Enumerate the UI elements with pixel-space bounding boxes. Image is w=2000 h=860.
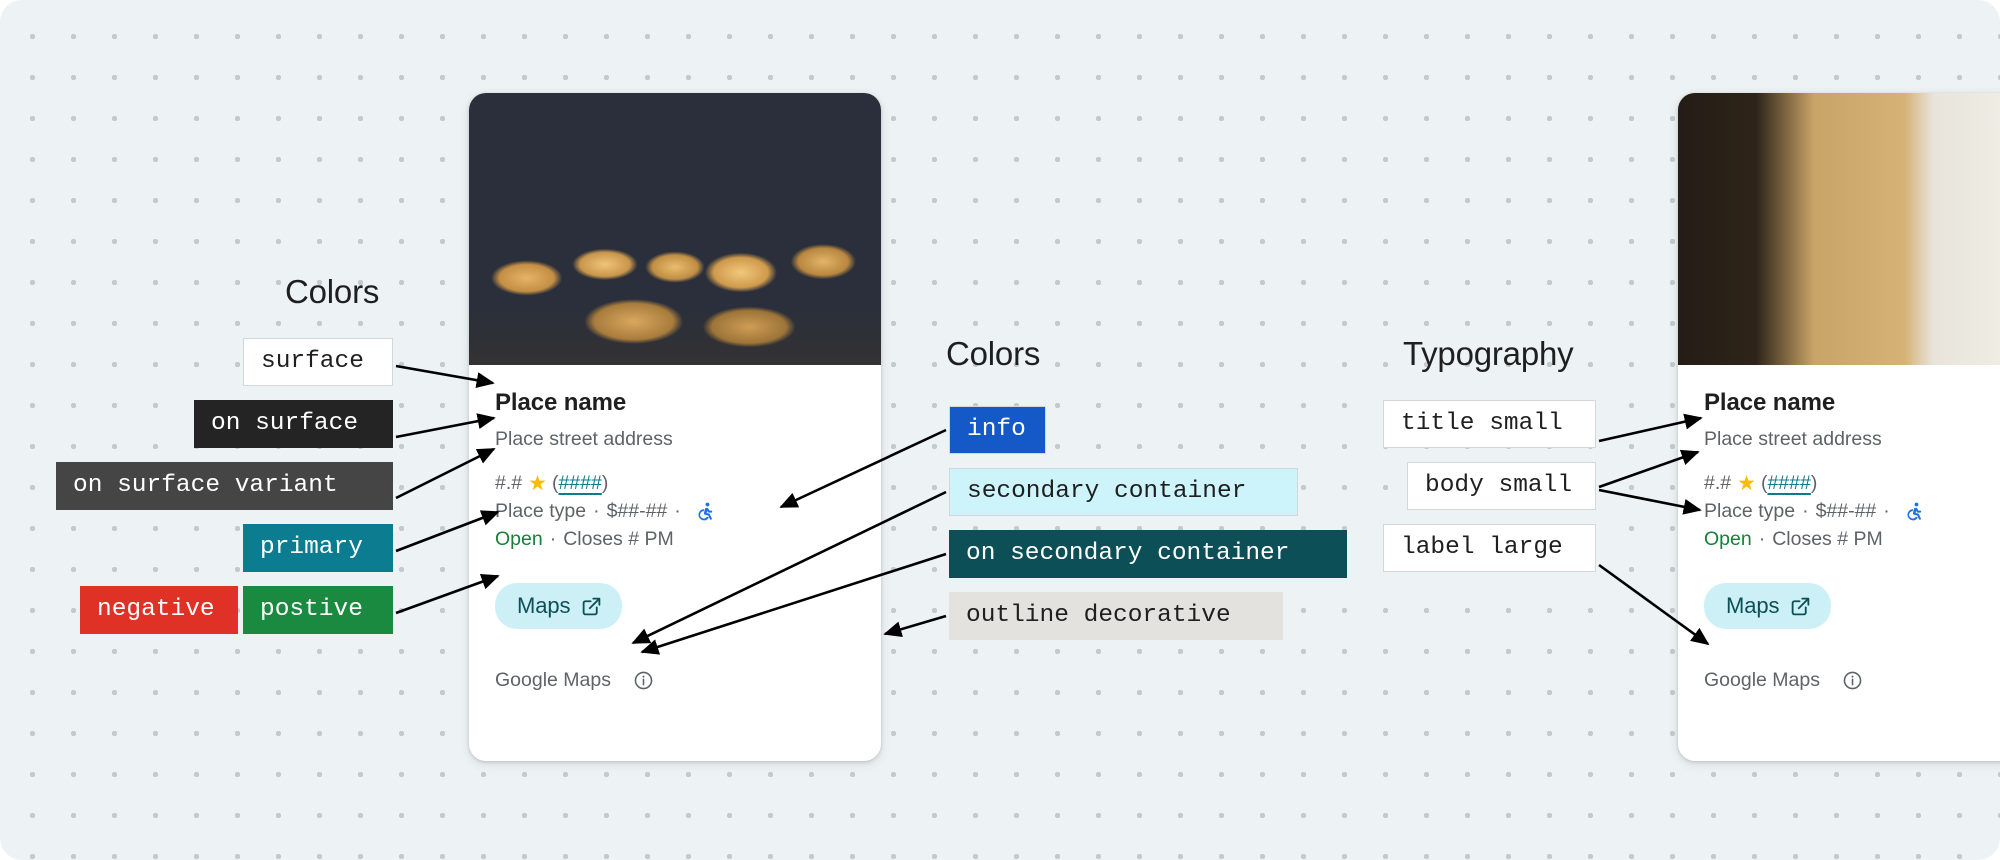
color-chip-label: secondary container: [967, 480, 1246, 505]
color-chip-label: surface: [261, 350, 364, 375]
rating-value: #.#: [1704, 472, 1731, 495]
wheelchair-accessible-icon: [1905, 501, 1924, 522]
open-status: Open: [495, 528, 543, 551]
paren-close: ): [602, 472, 609, 495]
typography-chip-label: label large: [1401, 536, 1563, 561]
external-link-icon: [1790, 596, 1811, 617]
color-chip-negative[interactable]: negative: [80, 586, 238, 634]
color-chip-info[interactable]: info: [949, 406, 1046, 454]
typography-chip-label: title small: [1401, 412, 1563, 437]
open-status: Open: [1704, 528, 1752, 551]
color-chip-on-secondary-container[interactable]: on secondary container: [949, 530, 1347, 578]
color-chip-label: postive: [260, 598, 363, 623]
place-name: Place name: [1704, 389, 2000, 417]
design-annotation-canvas: Colors Colors Typography surface on surf…: [0, 0, 2000, 860]
footer-brand-label: Google Maps: [1704, 669, 1820, 692]
external-link-icon: [581, 596, 602, 617]
color-chip-label: on secondary container: [966, 542, 1289, 567]
place-type-row: Place type · $##-## ·: [495, 500, 855, 523]
place-name: Place name: [495, 389, 855, 417]
star-icon: ★: [1737, 473, 1756, 494]
typography-chip-label-large[interactable]: label large: [1383, 524, 1596, 572]
maps-button[interactable]: Maps: [495, 583, 622, 629]
maps-button-label: Maps: [1726, 593, 1779, 619]
star-icon: ★: [528, 473, 547, 494]
color-chip-label: outline decorative: [966, 604, 1231, 629]
place-type-row: Place type · $##-## ·: [1704, 500, 2000, 523]
color-chip-label: on surface variant: [73, 474, 338, 499]
maps-button-label: Maps: [517, 593, 570, 619]
separator-dot: ·: [674, 500, 681, 523]
typography-chip-label: body small: [1425, 474, 1572, 499]
place-card-left: Place name Place street address #.# ★ (#…: [469, 93, 881, 761]
wheelchair-accessible-icon: [696, 501, 715, 522]
place-hours-row: Open · Closes # PM: [1704, 528, 2000, 551]
closing-time: Closes # PM: [1772, 528, 1883, 551]
arrow-outline-decorative-to-card-divider: [885, 616, 946, 634]
color-chip-label: primary: [260, 536, 363, 561]
closing-time: Closes # PM: [563, 528, 674, 551]
color-chip-postive[interactable]: postive: [243, 586, 393, 634]
separator-dot: ·: [593, 500, 600, 523]
typography-chip-title-small[interactable]: title small: [1383, 400, 1596, 448]
price-range: $##-##: [1816, 500, 1877, 523]
typography-chip-body-small[interactable]: body small: [1407, 462, 1596, 510]
info-circle-icon[interactable]: [633, 670, 654, 691]
rating-value: #.#: [495, 472, 522, 495]
separator-dot: ·: [1759, 528, 1766, 551]
price-range: $##-##: [607, 500, 668, 523]
color-chip-on-surface-variant[interactable]: on surface variant: [56, 462, 393, 510]
place-rating-row: #.# ★ (####): [495, 472, 855, 495]
card-footer: Google Maps: [1704, 669, 2000, 692]
separator-dot: ·: [1802, 500, 1809, 523]
card-footer: Google Maps: [495, 669, 855, 692]
place-type: Place type: [1704, 500, 1795, 523]
color-chip-primary[interactable]: primary: [243, 524, 393, 572]
maps-button[interactable]: Maps: [1704, 583, 1831, 629]
place-type: Place type: [495, 500, 586, 523]
color-chip-label: info: [967, 418, 1026, 443]
section-heading-colors-left: Colors: [285, 273, 379, 311]
footer-brand-label: Google Maps: [495, 669, 611, 692]
place-address: Place street address: [495, 428, 855, 451]
color-chip-surface[interactable]: surface: [243, 338, 393, 386]
place-photo-cafe: [1678, 93, 2000, 365]
color-chip-on-surface[interactable]: on surface: [194, 400, 393, 448]
paren-close: ): [1811, 472, 1818, 495]
place-address: Place street address: [1704, 428, 2000, 451]
place-photo-bakery: [469, 93, 881, 365]
section-heading-colors-mid: Colors: [946, 335, 1040, 373]
place-rating-row: #.# ★ (####): [1704, 472, 2000, 495]
review-count-link[interactable]: ####: [1767, 472, 1810, 495]
color-chip-secondary-container[interactable]: secondary container: [949, 468, 1298, 516]
color-chip-outline-decorative[interactable]: outline decorative: [949, 592, 1283, 640]
place-hours-row: Open · Closes # PM: [495, 528, 855, 551]
review-count-link[interactable]: ####: [558, 472, 601, 495]
separator-dot: ·: [1883, 500, 1890, 523]
info-circle-icon[interactable]: [1842, 670, 1863, 691]
color-chip-label: on surface: [211, 412, 358, 437]
section-heading-typography: Typography: [1403, 335, 1573, 373]
place-card-right: Place name Place street address #.# ★ (#…: [1678, 93, 2000, 761]
color-chip-label: negative: [97, 598, 215, 623]
separator-dot: ·: [550, 528, 557, 551]
